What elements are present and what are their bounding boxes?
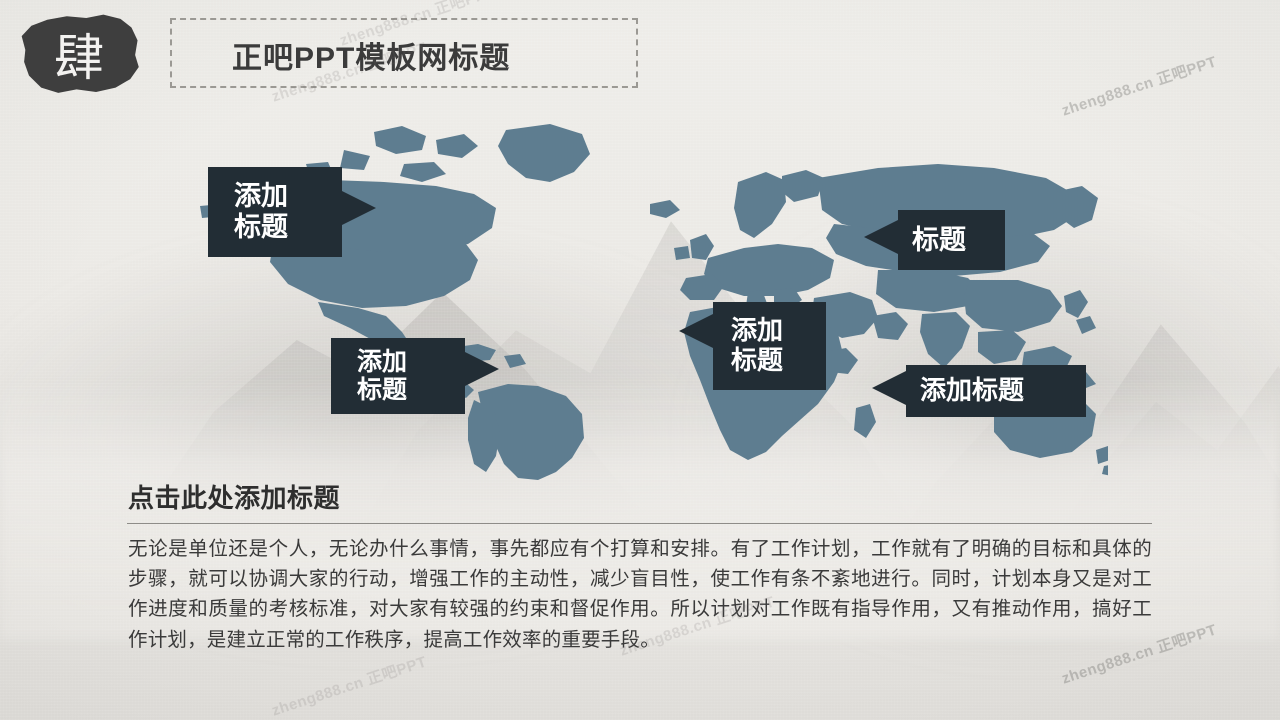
callout-title-2[interactable]: 标题 [898,210,1005,270]
slide-canvas: 肆 正吧PPT模板网标题 [0,0,1280,720]
callout-line: 添加 [731,316,826,346]
section-number-badge: 肆 [18,12,140,98]
callout-line: 添加标题 [920,376,1086,406]
body-paragraph: 无论是单位还是个人，无论办什么事情，事先都应有个打算和安排。有了工作计划，工作就… [128,534,1152,655]
callout-line: 标题 [234,212,342,243]
callout-line: 添加 [357,348,465,377]
callout-pointer-right-icon [465,352,499,386]
callout-pointer-left-icon [864,220,898,254]
callout-line: 标题 [912,225,1005,256]
page-title: 正吧PPT模板网标题 [232,33,510,77]
callout-add-title-3[interactable]: 添加 标题 [331,338,465,414]
callout-add-title-4[interactable]: 添加 标题 [713,302,826,390]
heading-divider [127,523,1152,524]
callout-add-title-5[interactable]: 添加标题 [906,365,1086,417]
callout-pointer-right-icon [342,191,376,225]
callout-add-title-1[interactable]: 添加 标题 [208,167,342,257]
callout-line: 添加 [234,181,342,212]
callout-line: 标题 [731,346,826,376]
callout-line: 标题 [357,376,465,405]
section-heading: 点击此处添加标题 [128,478,340,515]
callout-pointer-left-icon [679,314,713,348]
section-number-char: 肆 [18,12,140,98]
callout-pointer-left-icon [872,371,906,405]
